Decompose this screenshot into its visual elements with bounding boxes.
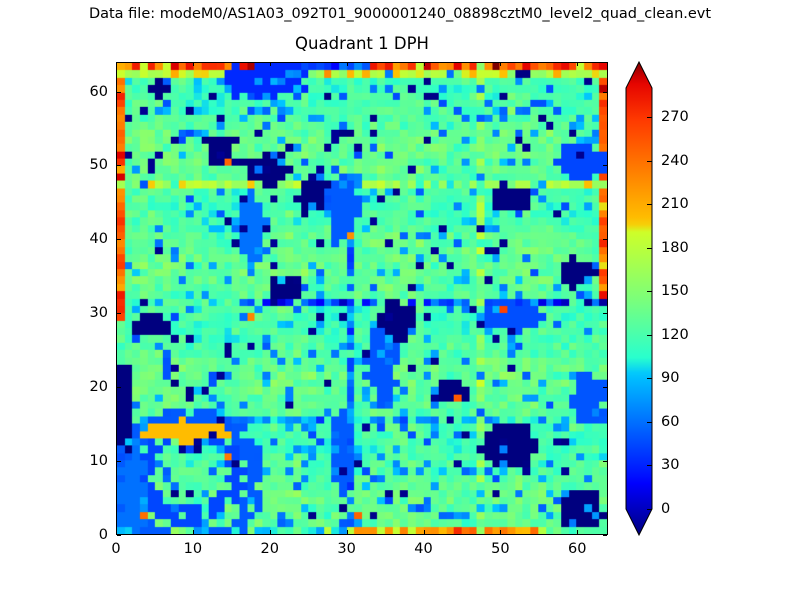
y-tick-label-20: 20 [70,379,108,395]
x-tick-10 [193,530,194,534]
colorbar-tick-90 [647,378,652,379]
x-tick-label-20: 20 [261,541,279,557]
colorbar-tick-240 [647,161,652,162]
detector-pixel-map[interactable] [117,63,607,534]
colorbar-tick-label-150: 150 [661,283,689,299]
y-tick-50 [603,165,607,166]
x-tick-0 [116,62,117,66]
y-tick-0 [603,535,607,536]
x-tick-50 [500,530,501,534]
colorbar[interactable] [626,62,652,535]
colorbar-tick-label-270: 270 [661,109,689,125]
x-tick-label-10: 10 [184,541,202,557]
x-tick-label-0: 0 [111,541,120,557]
colorbar-tick-label-180: 180 [661,240,689,256]
y-tick-60 [117,92,121,93]
page-title: Quadrant 1 DPH [116,34,608,53]
y-tick-label-30: 30 [70,305,108,321]
colorbar-body [626,62,652,535]
x-tick-20 [270,530,271,534]
y-tick-label-10: 10 [70,453,108,469]
colorbar-tick-210 [647,204,652,205]
y-tick-40 [117,239,121,240]
figure-canvas: Data file: modeM0/AS1A03_092T01_90000012… [0,0,800,600]
y-tick-30 [117,313,121,314]
y-tick-10 [603,461,607,462]
x-tick-0 [116,530,117,534]
colorbar-tick-label-240: 240 [661,153,689,169]
y-tick-10 [117,461,121,462]
data-file-label: Data file: modeM0/AS1A03_092T01_90000012… [0,6,800,22]
y-tick-30 [603,313,607,314]
y-tick-20 [603,387,607,388]
x-tick-label-40: 40 [414,541,432,557]
y-tick-label-50: 50 [70,157,108,173]
y-tick-label-40: 40 [70,231,108,247]
y-tick-0 [117,535,121,536]
y-tick-50 [117,165,121,166]
colorbar-tick-label-0: 0 [661,501,670,517]
y-tick-label-60: 60 [70,84,108,100]
x-tick-40 [424,530,425,534]
y-tick-label-0: 0 [70,527,108,543]
colorbar-tick-180 [647,248,652,249]
heatmap-axes[interactable] [116,62,608,535]
colorbar-tick-120 [647,335,652,336]
colorbar-tick-label-60: 60 [661,414,679,430]
colorbar-tick-60 [647,422,652,423]
colorbar-tick-label-210: 210 [661,196,689,212]
x-tick-label-60: 60 [568,541,586,557]
y-tick-40 [603,239,607,240]
colorbar-tick-30 [647,465,652,466]
colorbar-tick-0 [647,509,652,510]
colorbar-gradient [626,62,652,535]
x-tick-60 [577,62,578,66]
x-tick-30 [347,530,348,534]
colorbar-tick-label-120: 120 [661,327,689,343]
x-tick-60 [577,530,578,534]
x-tick-10 [193,62,194,66]
x-tick-50 [500,62,501,66]
x-tick-label-50: 50 [491,541,509,557]
x-tick-20 [270,62,271,66]
y-tick-60 [603,92,607,93]
colorbar-tick-label-90: 90 [661,370,679,386]
x-tick-40 [424,62,425,66]
colorbar-tick-150 [647,291,652,292]
x-tick-30 [347,62,348,66]
y-tick-20 [117,387,121,388]
colorbar-tick-270 [647,117,652,118]
colorbar-tick-label-30: 30 [661,457,679,473]
x-tick-label-30: 30 [337,541,355,557]
